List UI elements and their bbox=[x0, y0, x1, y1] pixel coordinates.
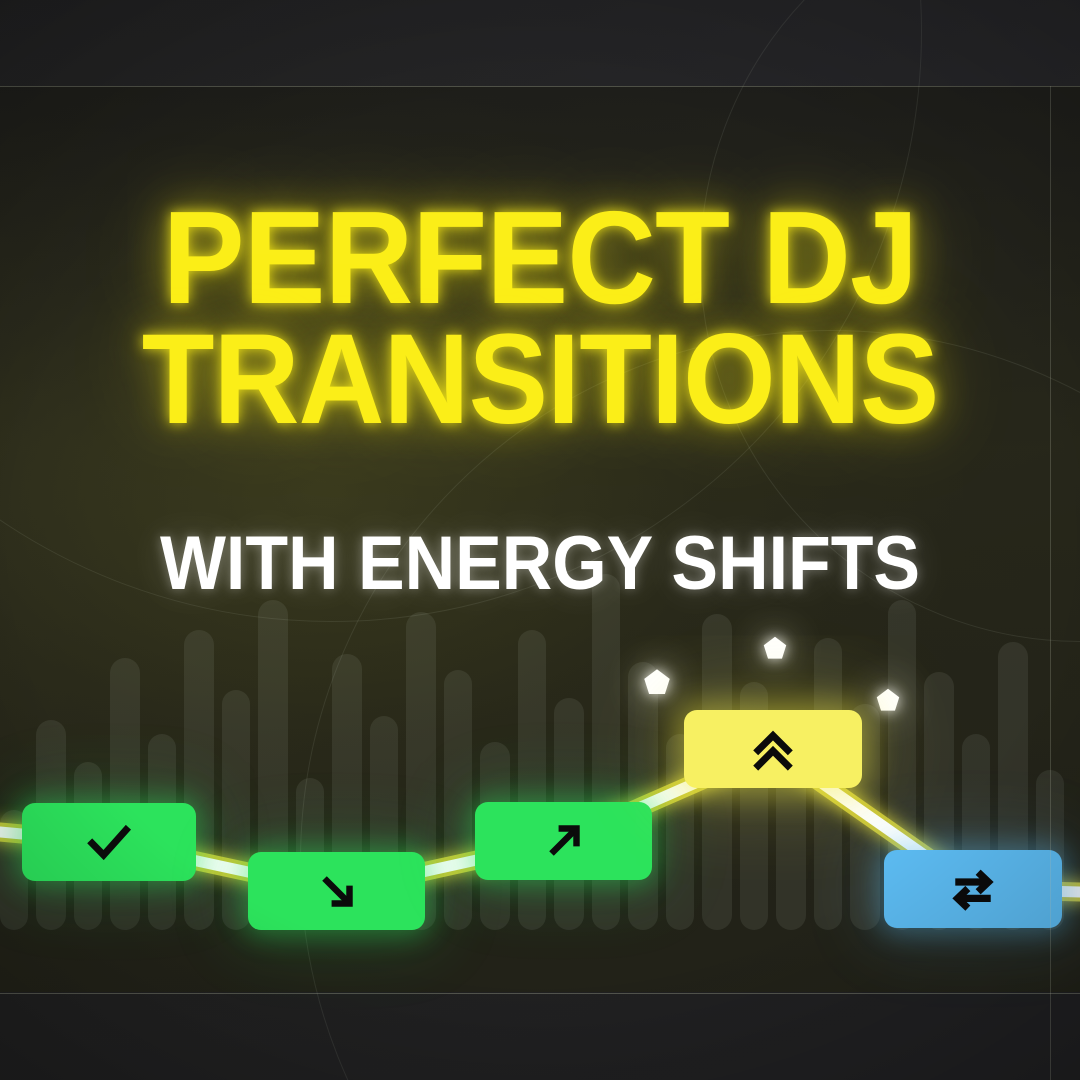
poster-canvas: PERFECT DJ TRANSITIONS WITH ENERGY SHIFT… bbox=[0, 0, 1080, 1080]
page-subtitle: WITH ENERGY SHIFTS bbox=[43, 520, 1037, 607]
title-line-2: TRANSITIONS bbox=[38, 320, 1042, 440]
title-line-1: PERFECT DJ bbox=[38, 196, 1042, 320]
page-title: PERFECT DJ TRANSITIONS bbox=[0, 196, 1080, 440]
